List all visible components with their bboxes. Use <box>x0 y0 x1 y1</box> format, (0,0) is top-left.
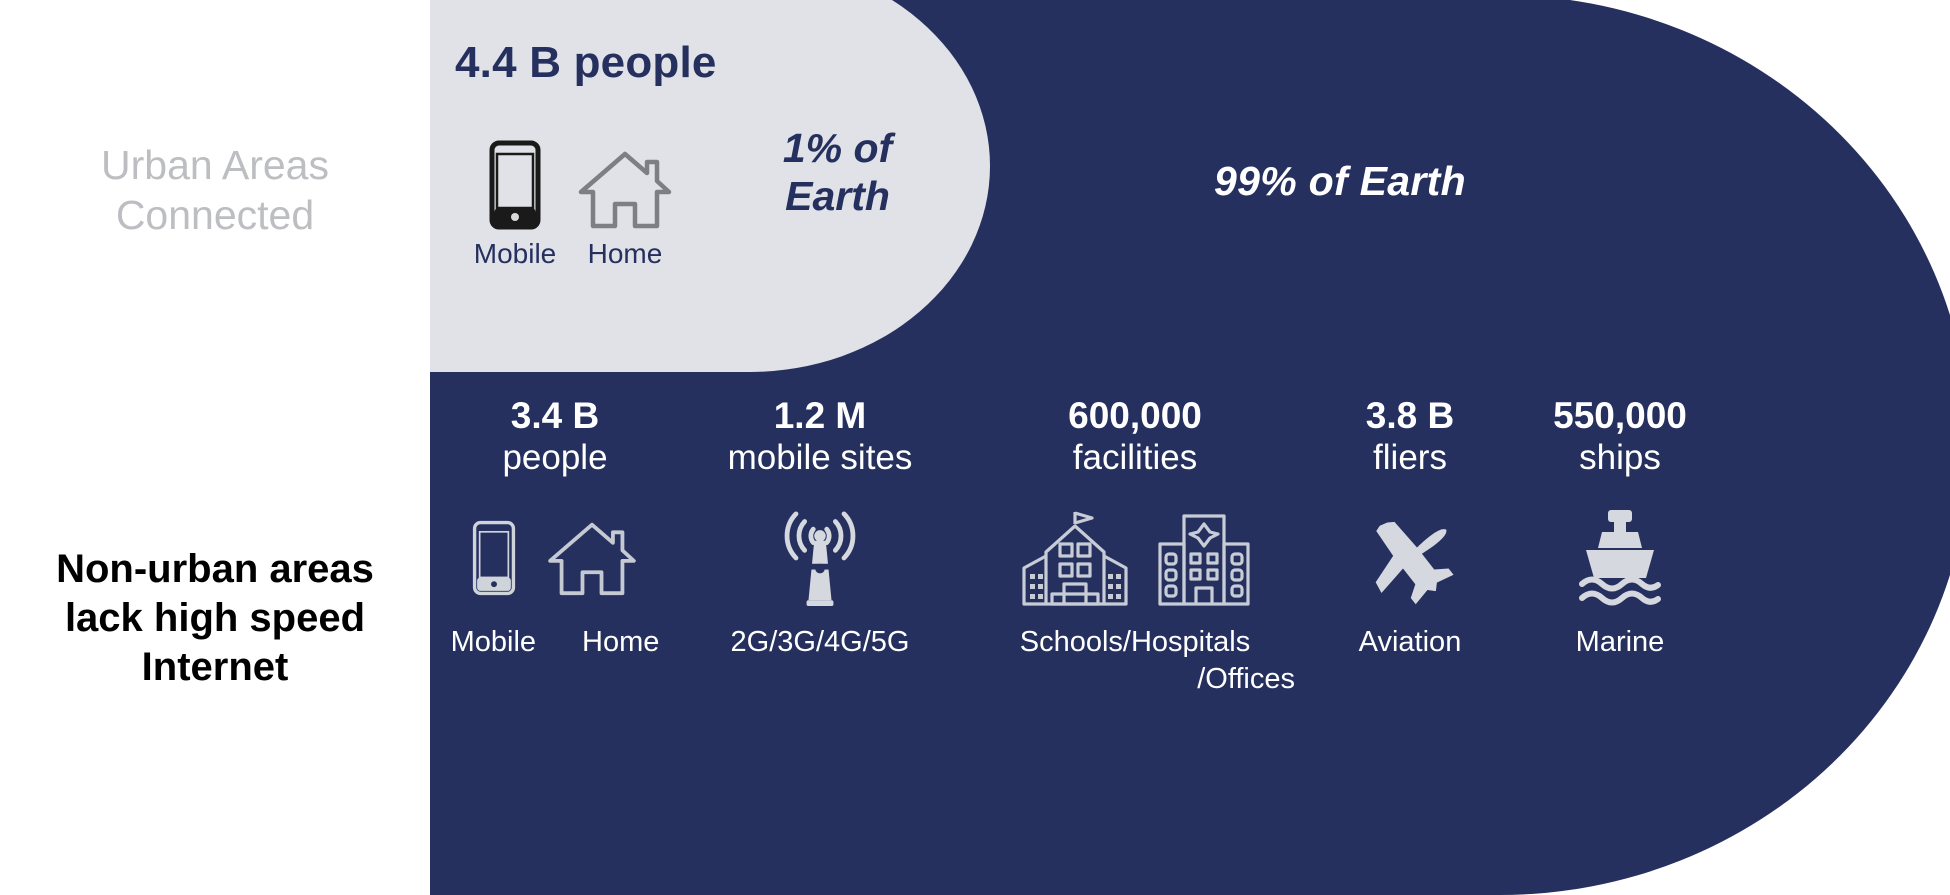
stat-captions-people: Mobile Home <box>430 626 680 659</box>
stat-icons-marine <box>1510 504 1730 612</box>
cell-tower-icon <box>772 508 868 608</box>
stat-column-facilities: 600,000 facilities <box>975 395 1295 697</box>
stat-caption-marine: Marine <box>1576 626 1665 659</box>
urban-content-group: 4.4 B people Mobile Home 1% of Earth <box>0 0 990 375</box>
non-urban-stats-row: 3.4 B people Mobile Home 1.2 M mobile si… <box>430 395 1730 795</box>
stat-caption-home: Home <box>582 626 659 659</box>
stat-icons-mobile-sites <box>680 504 960 612</box>
hospital-building-icon <box>1154 508 1254 608</box>
ninetynine-percent-of-earth-label: 99% of Earth <box>1110 158 1570 205</box>
stat-number-mobile-sites: 1.2 M <box>680 395 960 437</box>
stat-unit-ships: ships <box>1510 437 1730 478</box>
stat-unit-facilities: facilities <box>975 437 1295 478</box>
stat-unit-fliers: fliers <box>1310 437 1510 478</box>
stat-column-people: 3.4 B people Mobile Home <box>430 395 680 659</box>
stat-unit-mobile-sites: mobile sites <box>680 437 960 478</box>
ship-icon <box>1572 508 1668 608</box>
stat-unit-people: people <box>430 437 680 478</box>
stat-icons-facilities <box>975 504 1295 612</box>
stat-column-mobile-sites: 1.2 M mobile sites 2G/3G/4G/5G <box>680 395 960 659</box>
stat-caption-aviation: Aviation <box>1359 626 1462 659</box>
stat-captions-mobile-sites: 2G/3G/4G/5G <box>680 626 960 659</box>
stat-caption-mobile: Mobile <box>451 626 536 659</box>
school-building-icon <box>1016 506 1134 611</box>
stat-column-marine: 550,000 ships Marine <box>1510 395 1730 659</box>
urban-item-home: Home <box>555 134 695 270</box>
non-urban-lack-internet-label: Non-urban areas lack high speed Internet <box>0 545 430 691</box>
stat-caption-schools-hospitals: Schools/Hospitals <box>975 626 1295 659</box>
stat-caption-offices: /Offices <box>975 663 1295 696</box>
house-icon <box>546 519 638 597</box>
urban-item-home-caption: Home <box>555 238 695 270</box>
stat-number-people: 3.4 B <box>430 395 680 437</box>
mobile-phone-icon <box>472 520 516 596</box>
airplane-icon <box>1358 510 1462 606</box>
one-percent-of-earth-label: 1% of Earth <box>740 125 935 221</box>
urban-people-headline: 4.4 B people <box>455 38 717 88</box>
stat-caption-generations: 2G/3G/4G/5G <box>731 626 910 659</box>
house-icon <box>555 134 695 230</box>
stat-number-facilities: 600,000 <box>975 395 1295 437</box>
stat-icons-aviation <box>1310 504 1510 612</box>
stat-captions-facilities: Schools/Hospitals /Offices <box>975 626 1295 697</box>
stat-captions-marine: Marine <box>1510 626 1730 659</box>
stat-column-aviation: 3.8 B fliers Aviation <box>1310 395 1510 659</box>
stat-captions-aviation: Aviation <box>1310 626 1510 659</box>
stat-number-ships: 550,000 <box>1510 395 1730 437</box>
stat-number-fliers: 3.8 B <box>1310 395 1510 437</box>
stat-icons-people <box>430 504 680 612</box>
